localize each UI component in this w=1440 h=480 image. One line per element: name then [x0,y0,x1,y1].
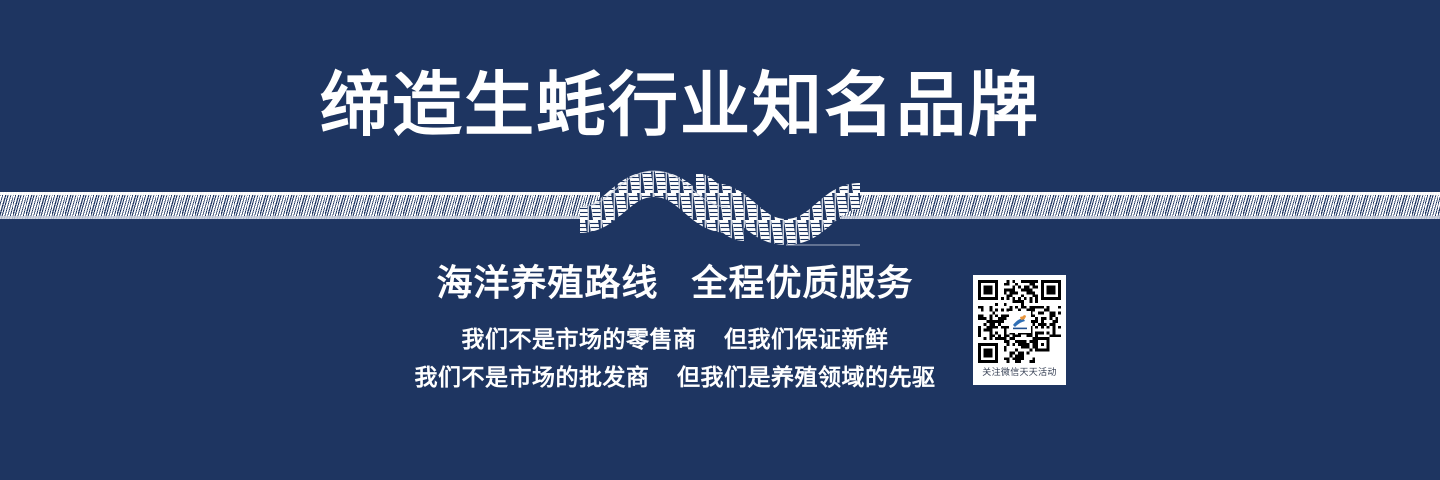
rope-segment-left [0,192,600,219]
qr-caption: 关注微信天天活动 [978,363,1061,381]
body-text-block: 我们不是市场的零售商 但我们保证新鲜 我们不是市场的批发商 但我们是养殖领域的先… [0,320,1350,396]
page-title: 缔造生蚝行业知名品牌 [0,70,1360,140]
nautical-rope-divider [0,188,1440,224]
body-line: 我们不是市场的零售商 但我们保证新鲜 [0,320,1350,358]
qr-code-card[interactable]: 关注微信天天活动 [973,275,1066,385]
reef-knot-icon [576,166,864,248]
body-line: 我们不是市场的批发商 但我们是养殖领域的先驱 [0,358,1350,396]
subheading: 海洋养殖路线 全程优质服务 [0,262,1350,303]
qr-code-image[interactable] [978,280,1061,363]
promo-banner: 缔造生蚝行业知名品牌 [0,0,1440,480]
rope-segment-right [840,192,1440,219]
brand-logo-icon [1009,311,1031,333]
